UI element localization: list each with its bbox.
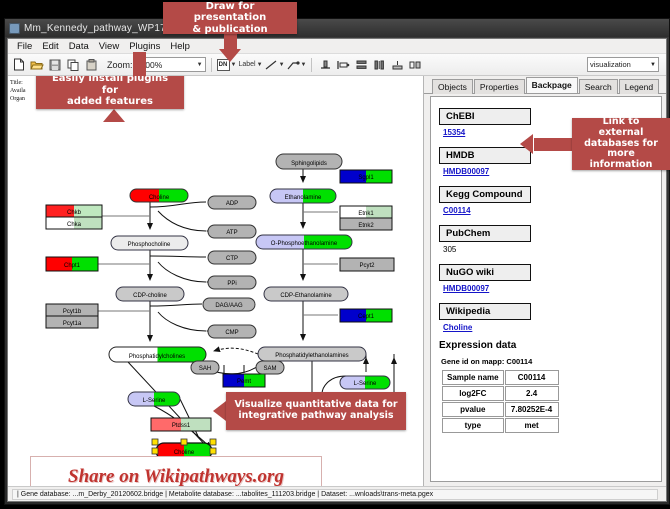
- svg-text:Ethanolamine: Ethanolamine: [285, 195, 322, 201]
- backpage-link-kegg[interactable]: C00114: [443, 206, 653, 215]
- svg-text:Etnk1: Etnk1: [358, 211, 374, 217]
- table-cell-value: met: [505, 418, 559, 433]
- table-cell-label: type: [442, 418, 504, 433]
- svg-text:DAG/AAG: DAG/AAG: [215, 303, 243, 309]
- callout-draw-text: Draw for presentation & publication: [171, 1, 289, 36]
- visualization-value: visualization: [590, 60, 631, 69]
- group-icon[interactable]: [389, 57, 405, 73]
- svg-text:CMP: CMP: [225, 330, 238, 336]
- backpage-header-wikipedia: Wikipedia: [439, 303, 531, 320]
- svg-text:Sphingolipids: Sphingolipids: [291, 161, 327, 167]
- chevron-down-icon: ▼: [197, 62, 203, 68]
- window-client-area: File Edit Data View Plugins Help: [7, 38, 667, 502]
- svg-text:Pcyt1a: Pcyt1a: [63, 321, 82, 327]
- menu-file[interactable]: File: [12, 41, 37, 52]
- svg-text:Chkb: Chkb: [67, 210, 82, 216]
- line-tool[interactable]: ▼: [265, 60, 285, 70]
- backpage-header-chebi: ChEBI: [439, 108, 531, 125]
- align-top-icon[interactable]: [317, 57, 333, 73]
- svg-text:SAH: SAH: [199, 366, 211, 372]
- callout-plugins-arrow: [103, 109, 125, 122]
- backpage-header-nugo: NuGO wiki: [439, 264, 531, 281]
- svg-text:Ptdss1: Ptdss1: [172, 423, 191, 429]
- status-bar-text: | Gene database: ...m_Derby_20120602.bri…: [12, 489, 658, 500]
- chevron-down-icon: ▼: [231, 62, 237, 68]
- bring-front-icon[interactable]: [407, 57, 423, 73]
- callout-links-arrow: [520, 134, 533, 154]
- callout-links-text: Link to external databases for more info…: [580, 117, 662, 172]
- share-banner: Share on Wikipathways.org: [30, 456, 322, 486]
- chevron-down-icon: ▼: [301, 62, 307, 68]
- backpage-header-kegg: Kegg Compound: [439, 186, 531, 203]
- distribute-icon[interactable]: [371, 57, 387, 73]
- svg-text:CDP-Ethanolamine: CDP-Ethanolamine: [280, 293, 332, 299]
- table-cell-value: 2.4: [505, 386, 559, 401]
- table-cell-label: pvalue: [442, 402, 504, 417]
- table-cell-value: 7.80252E-4: [505, 402, 559, 417]
- pathway-canvas[interactable]: Title: Availa Organ: [8, 76, 424, 486]
- open-folder-icon[interactable]: [29, 57, 45, 73]
- svg-text:PPi: PPi: [227, 281, 236, 287]
- table-row: type met: [442, 418, 559, 433]
- svg-text:Sgpl1: Sgpl1: [358, 175, 374, 181]
- table-cell-label: log2FC: [442, 386, 504, 401]
- svg-text:CDP-choline: CDP-choline: [133, 293, 167, 299]
- tab-objects[interactable]: Objects: [432, 79, 473, 94]
- tool-bar: Zoom: 100% ▼ DN ▼ Label ▼ ▼ ▼: [8, 54, 666, 76]
- backpage-header-pubchem: PubChem: [439, 225, 531, 242]
- svg-text:Chka: Chka: [67, 222, 82, 228]
- backpage-link-wikipedia[interactable]: Choline: [443, 323, 653, 332]
- line-icon: [265, 60, 278, 70]
- svg-text:ADP: ADP: [226, 201, 238, 207]
- tab-properties[interactable]: Properties: [474, 79, 525, 94]
- chevron-down-icon: ▼: [257, 62, 263, 68]
- table-row: log2FC 2.4: [442, 386, 559, 401]
- svg-text:Pemt: Pemt: [237, 379, 251, 385]
- svg-text:ATP: ATP: [226, 230, 237, 236]
- table-row: pvalue 7.80252E-4: [442, 402, 559, 417]
- visualization-combo[interactable]: visualization ▼: [587, 57, 659, 72]
- toolbar-separator: [311, 58, 312, 72]
- label-tool[interactable]: Label ▼: [238, 61, 262, 68]
- svg-text:L-Serine: L-Serine: [143, 398, 166, 404]
- new-file-icon[interactable]: [11, 57, 27, 73]
- svg-text:Phosphatidylethanolamines: Phosphatidylethanolamines: [275, 353, 348, 359]
- svg-text:Cept1: Cept1: [358, 314, 375, 320]
- share-banner-text: Share on Wikipathways.org: [68, 466, 284, 486]
- callout-links-stem: [534, 138, 574, 151]
- gene-id-note: Gene id on mapp: C00114: [441, 357, 653, 366]
- svg-text:L-Serine: L-Serine: [354, 381, 377, 387]
- table-row: Sample name C00114: [442, 370, 559, 385]
- table-cell-value: C00114: [505, 370, 559, 385]
- callout-visualize-arrow: [213, 401, 226, 421]
- callout-draw: Draw for presentation & publication: [163, 2, 297, 34]
- side-panel-tabs: Objects Properties Backpage Search Legen…: [424, 76, 666, 94]
- svg-text:Pcyt2: Pcyt2: [359, 263, 375, 269]
- svg-text:O-Phosphoethanolamine: O-Phosphoethanolamine: [271, 241, 338, 247]
- menu-bar: File Edit Data View Plugins Help: [8, 39, 666, 54]
- status-bar: | Gene database: ...m_Derby_20120602.bri…: [8, 486, 666, 501]
- menu-plugins[interactable]: Plugins: [124, 41, 165, 52]
- svg-text:SAM: SAM: [263, 366, 276, 372]
- svg-text:Etnk2: Etnk2: [358, 223, 374, 229]
- chevron-down-icon: ▼: [650, 62, 656, 68]
- paste-icon[interactable]: [83, 57, 99, 73]
- anchor-line-tool[interactable]: ▼: [287, 59, 307, 70]
- copy-icon[interactable]: [65, 57, 81, 73]
- save-icon[interactable]: [47, 57, 63, 73]
- backpage-value-pubchem: 305: [443, 245, 653, 254]
- menu-help[interactable]: Help: [165, 41, 195, 52]
- callout-draw-stem: [224, 34, 237, 50]
- svg-text:Chpt1: Chpt1: [64, 263, 81, 269]
- svg-text:Pcyt1b: Pcyt1b: [63, 309, 82, 315]
- chevron-down-icon: ▼: [279, 62, 285, 68]
- app-icon: [9, 23, 20, 34]
- menu-view[interactable]: View: [94, 41, 124, 52]
- tab-legend[interactable]: Legend: [619, 79, 659, 94]
- label-icon: Label: [238, 61, 255, 68]
- backpage-header-hmdb: HMDB: [439, 147, 531, 164]
- expression-data-title: Expression data: [439, 340, 653, 351]
- title-bar: Mm_Kennedy_pathway_WP1771_45176.gpml: [5, 19, 669, 37]
- table-cell-label: Sample name: [442, 370, 504, 385]
- svg-text:CTP: CTP: [226, 256, 238, 262]
- zoom-combo[interactable]: 100% ▼: [138, 57, 206, 72]
- svg-text:Choline: Choline: [149, 195, 170, 201]
- tab-search[interactable]: Search: [579, 79, 618, 94]
- anchor-line-icon: [287, 59, 300, 70]
- callout-visualize: Visualize quantitative data for integrat…: [226, 392, 406, 430]
- align-left-icon[interactable]: [335, 57, 351, 73]
- tab-backpage[interactable]: Backpage: [526, 77, 578, 93]
- zoom-label: Zoom:: [107, 60, 133, 70]
- expression-table: Sample name C00114 log2FC 2.4 pvalue 7.8…: [441, 369, 560, 434]
- callout-visualize-text: Visualize quantitative data for integrat…: [234, 400, 397, 422]
- menu-edit[interactable]: Edit: [37, 41, 63, 52]
- callout-plugins-text: Easily install plugins for added feature…: [44, 76, 176, 108]
- svg-text:Phosphocholine: Phosphocholine: [128, 242, 171, 248]
- callout-links: Link to external databases for more info…: [572, 118, 670, 170]
- backpage-link-nugo[interactable]: HMDB00097: [443, 284, 653, 293]
- svg-text:Phosphatidylcholines: Phosphatidylcholines: [129, 354, 185, 360]
- callout-plugins-stem: [133, 52, 146, 76]
- callout-draw-arrow: [219, 49, 241, 62]
- align-rows-icon[interactable]: [353, 57, 369, 73]
- application-window: Mm_Kennedy_pathway_WP1771_45176.gpml Fil…: [4, 18, 670, 505]
- callout-plugins: Easily install plugins for added feature…: [36, 76, 184, 109]
- toolbar-separator: [211, 58, 212, 72]
- menu-data[interactable]: Data: [64, 41, 94, 52]
